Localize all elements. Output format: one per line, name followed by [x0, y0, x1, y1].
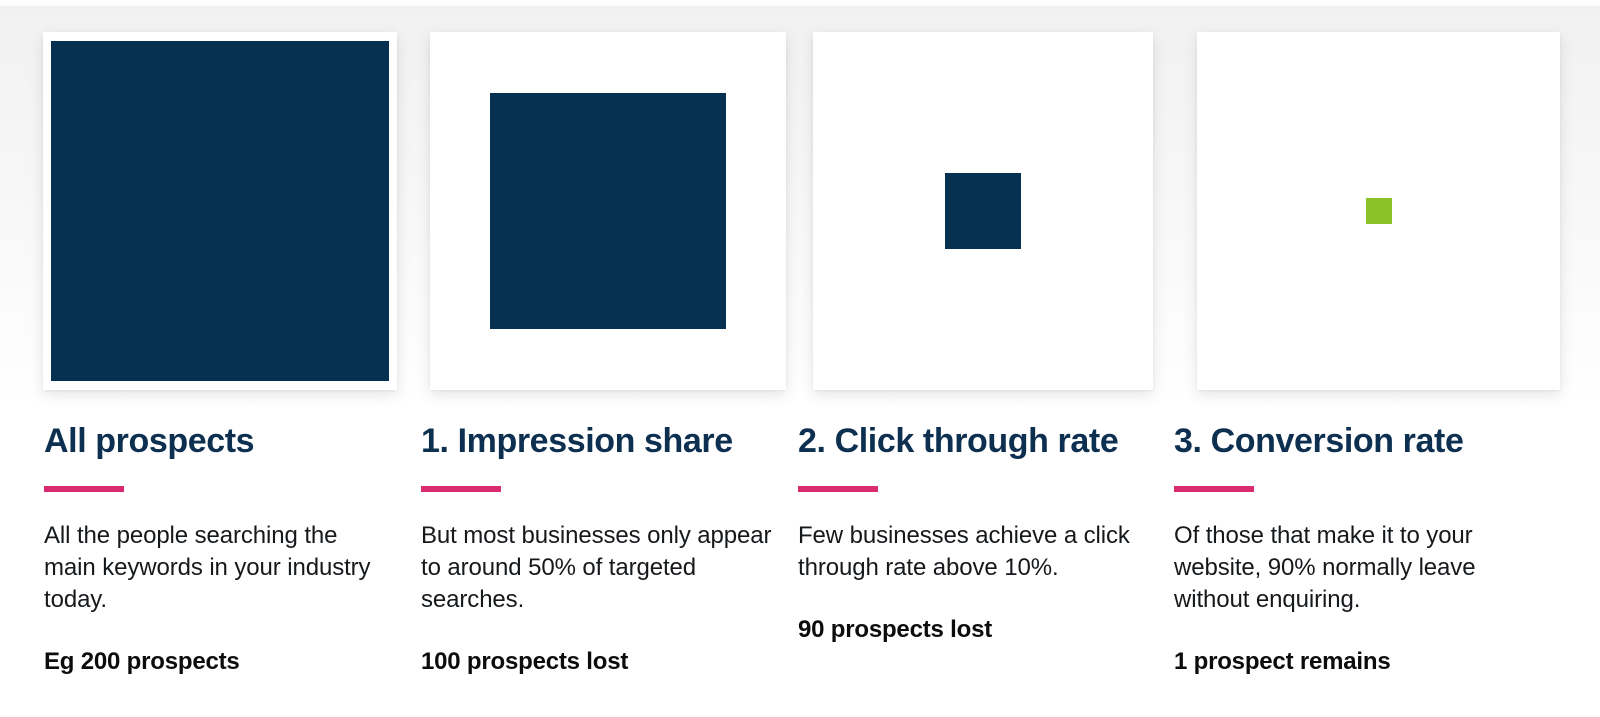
column-stat-text: 100 prospects lost	[421, 647, 781, 677]
column-impression-share: 1. Impression share But most businesses …	[421, 404, 781, 677]
column-body-text: Of those that make it to your website, 9…	[1174, 520, 1554, 616]
column-stat-text: 90 prospects lost	[798, 615, 1148, 645]
text-column-row: All prospects All the people searching t…	[0, 404, 1600, 717]
heading-underline-rule	[1174, 486, 1254, 492]
column-body-text: But most businesses only appear to aroun…	[421, 520, 781, 616]
column-heading: 2. Click through rate	[798, 404, 1148, 460]
navy-square-full-icon	[51, 41, 389, 381]
heading-underline-rule	[44, 486, 124, 492]
column-click-through-rate: 2. Click through rate Few businesses ach…	[798, 404, 1148, 645]
card-conversion-rate	[1197, 32, 1560, 390]
heading-underline-rule	[421, 486, 501, 492]
card-row	[0, 0, 1600, 404]
card-all-prospects	[43, 32, 397, 390]
infographic-stage: All prospects All the people searching t…	[0, 0, 1600, 717]
column-heading: 3. Conversion rate	[1174, 404, 1554, 460]
column-body-text: Few businesses achieve a click through r…	[798, 520, 1148, 584]
column-heading: All prospects	[44, 404, 394, 460]
navy-square-small-icon	[945, 173, 1021, 249]
column-heading: 1. Impression share	[421, 404, 781, 460]
card-impression-share	[430, 32, 786, 390]
green-square-tiny-icon	[1366, 198, 1392, 224]
column-stat-text: Eg 200 prospects	[44, 647, 394, 677]
column-stat-text: 1 prospect remains	[1174, 647, 1554, 677]
navy-square-half-icon	[490, 93, 726, 329]
card-click-through-rate	[813, 32, 1153, 390]
column-all-prospects: All prospects All the people searching t…	[44, 404, 394, 677]
heading-underline-rule	[798, 486, 878, 492]
column-body-text: All the people searching the main keywor…	[44, 520, 394, 616]
column-conversion-rate: 3. Conversion rate Of those that make it…	[1174, 404, 1554, 677]
